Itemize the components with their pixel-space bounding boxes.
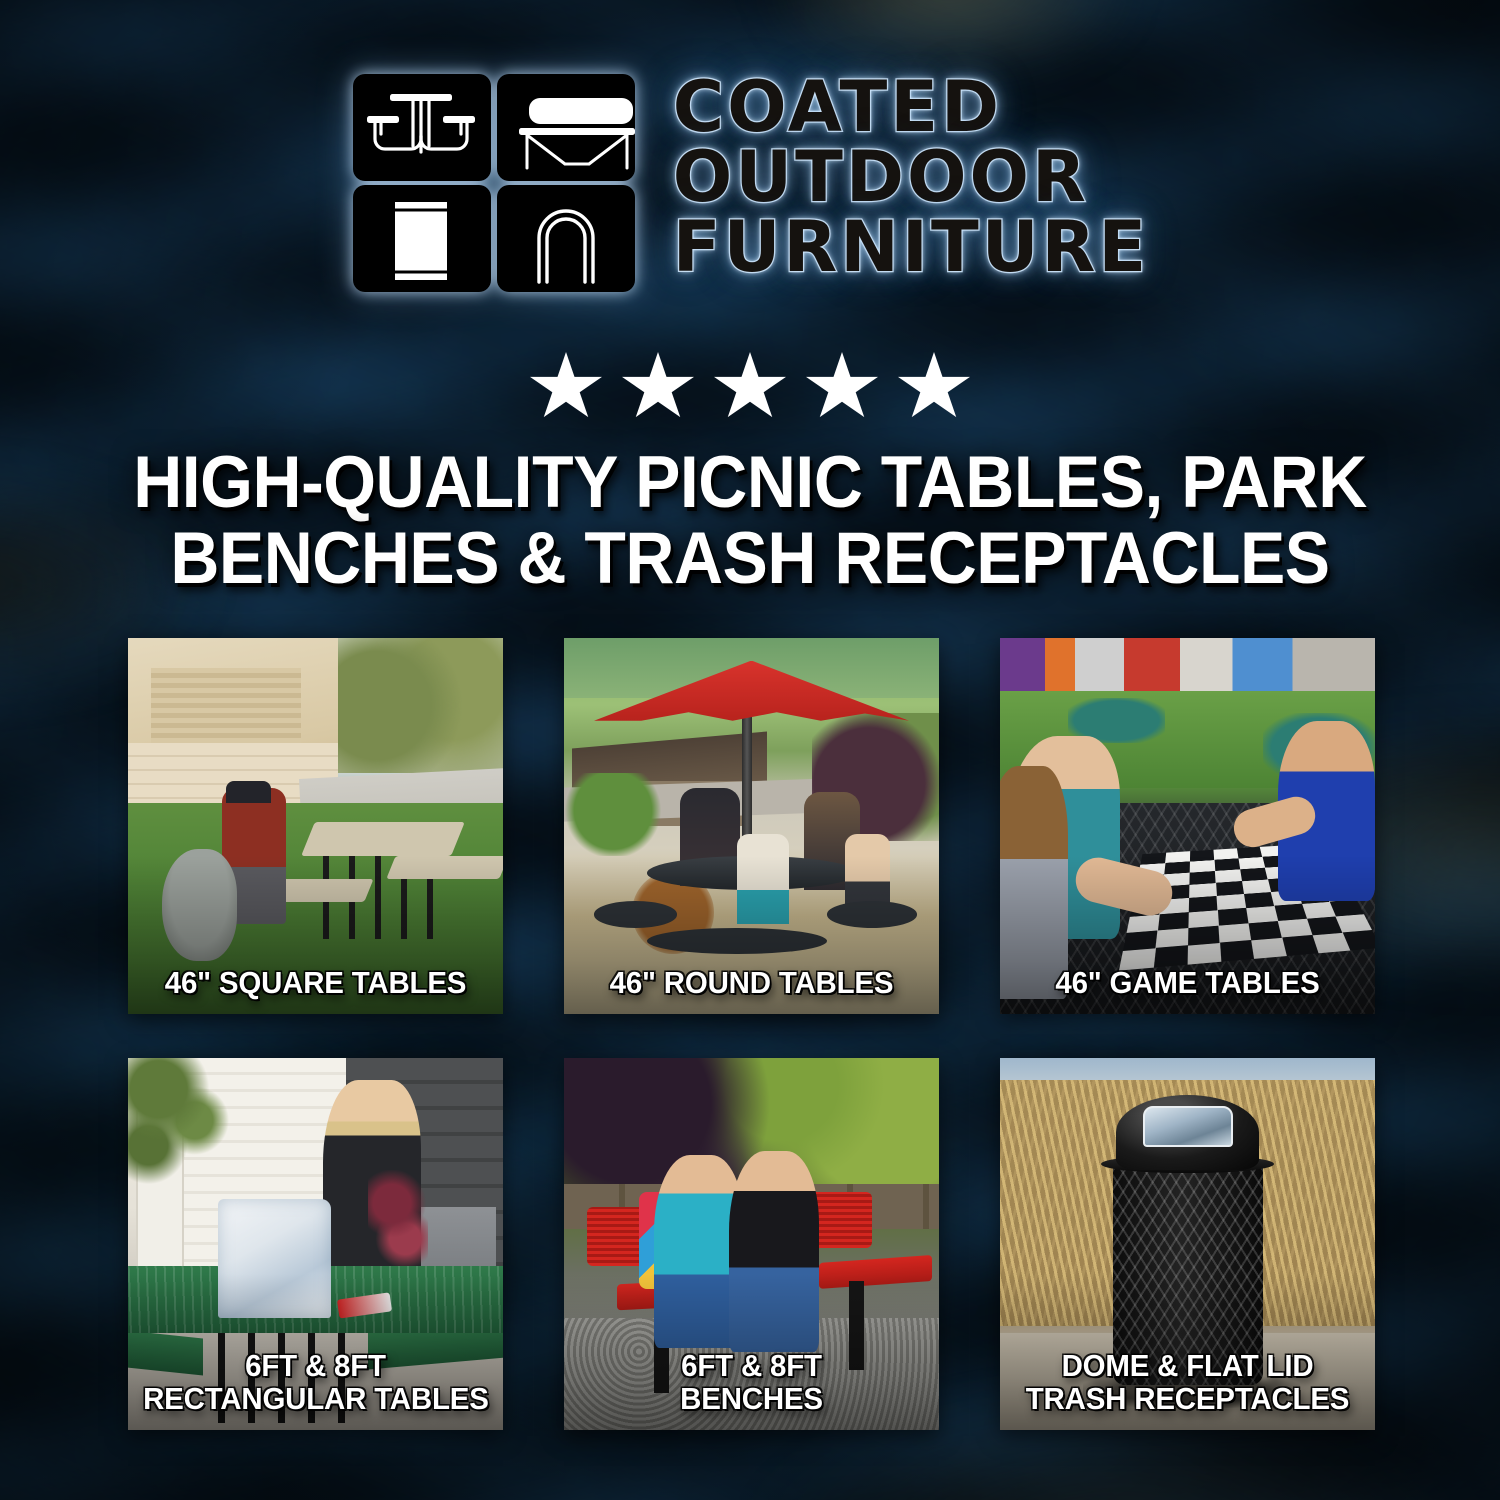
product-caption-line-1: 46" SQUARE TABLES [143,967,488,1000]
product-caption-line-1: 6FT & 8FT [143,1350,488,1383]
product-caption-line-2: TRASH RECEPTACLES [1015,1383,1360,1416]
product-caption-line-1: 46" ROUND TABLES [579,967,924,1000]
product-tile-square-tables[interactable]: 46" SQUARE TABLES [128,638,503,1014]
brand-name-line-3: FURNITURE [673,214,1150,282]
product-caption-line-1: 46" GAME TABLES [1015,967,1360,1000]
brand-logo: COATED OUTDOOR FURNITURE [0,72,1500,294]
brand-name-line-1: COATED [673,74,1150,142]
product-caption-line-2: BENCHES [579,1383,924,1416]
product-caption: 46" GAME TABLES [1015,967,1360,1000]
product-photo-round-tables [564,638,939,1014]
product-tile-round-tables[interactable]: 46" ROUND TABLES [564,638,939,1014]
product-tile-rectangular-tables[interactable]: 6FT & 8FT RECTANGULAR TABLES [128,1058,503,1430]
promo-poster: COATED OUTDOOR FURNITURE HIGH-QUALITY PI… [0,0,1500,1500]
star-icon-4 [806,352,878,422]
product-caption: 6FT & 8FT BENCHES [579,1350,924,1416]
headline-line-1: HIGH-QUALITY PICNIC TABLES, PARK [108,445,1391,521]
product-tile-trash-receptacles[interactable]: DOME & FLAT LID TRASH RECEPTACLES [1000,1058,1375,1430]
star-icon-3 [714,352,786,422]
brand-name-line-2: OUTDOOR [673,144,1150,212]
headline: HIGH-QUALITY PICNIC TABLES, PARK BENCHES… [108,445,1391,597]
product-photo-square-tables [128,638,503,1014]
headline-line-2: BENCHES & TRASH RECEPTACLES [108,521,1391,597]
product-caption: DOME & FLAT LID TRASH RECEPTACLES [1015,1350,1360,1416]
product-tile-benches[interactable]: 6FT & 8FT BENCHES [564,1058,939,1430]
product-caption-line-1: 6FT & 8FT [579,1350,924,1383]
product-photo-game-tables [1000,638,1375,1014]
brand-wordmark: COATED OUTDOOR FURNITURE [673,72,1150,282]
product-caption: 6FT & 8FT RECTANGULAR TABLES [143,1350,488,1416]
logo-icon-grid [351,72,637,294]
product-caption-line-2: RECTANGULAR TABLES [143,1383,488,1416]
trash-receptacle-icon [395,202,447,280]
product-tile-game-tables[interactable]: 46" GAME TABLES [1000,638,1375,1014]
product-caption: 46" ROUND TABLES [579,967,924,1000]
product-grid: 46" SQUARE TABLES [128,638,1375,1430]
product-caption: 46" SQUARE TABLES [143,967,488,1000]
star-icon-2 [622,352,694,422]
product-caption-line-1: DOME & FLAT LID [1015,1350,1360,1383]
star-icon-5 [898,352,970,422]
star-icon-1 [530,352,602,422]
star-rating [0,352,1500,422]
